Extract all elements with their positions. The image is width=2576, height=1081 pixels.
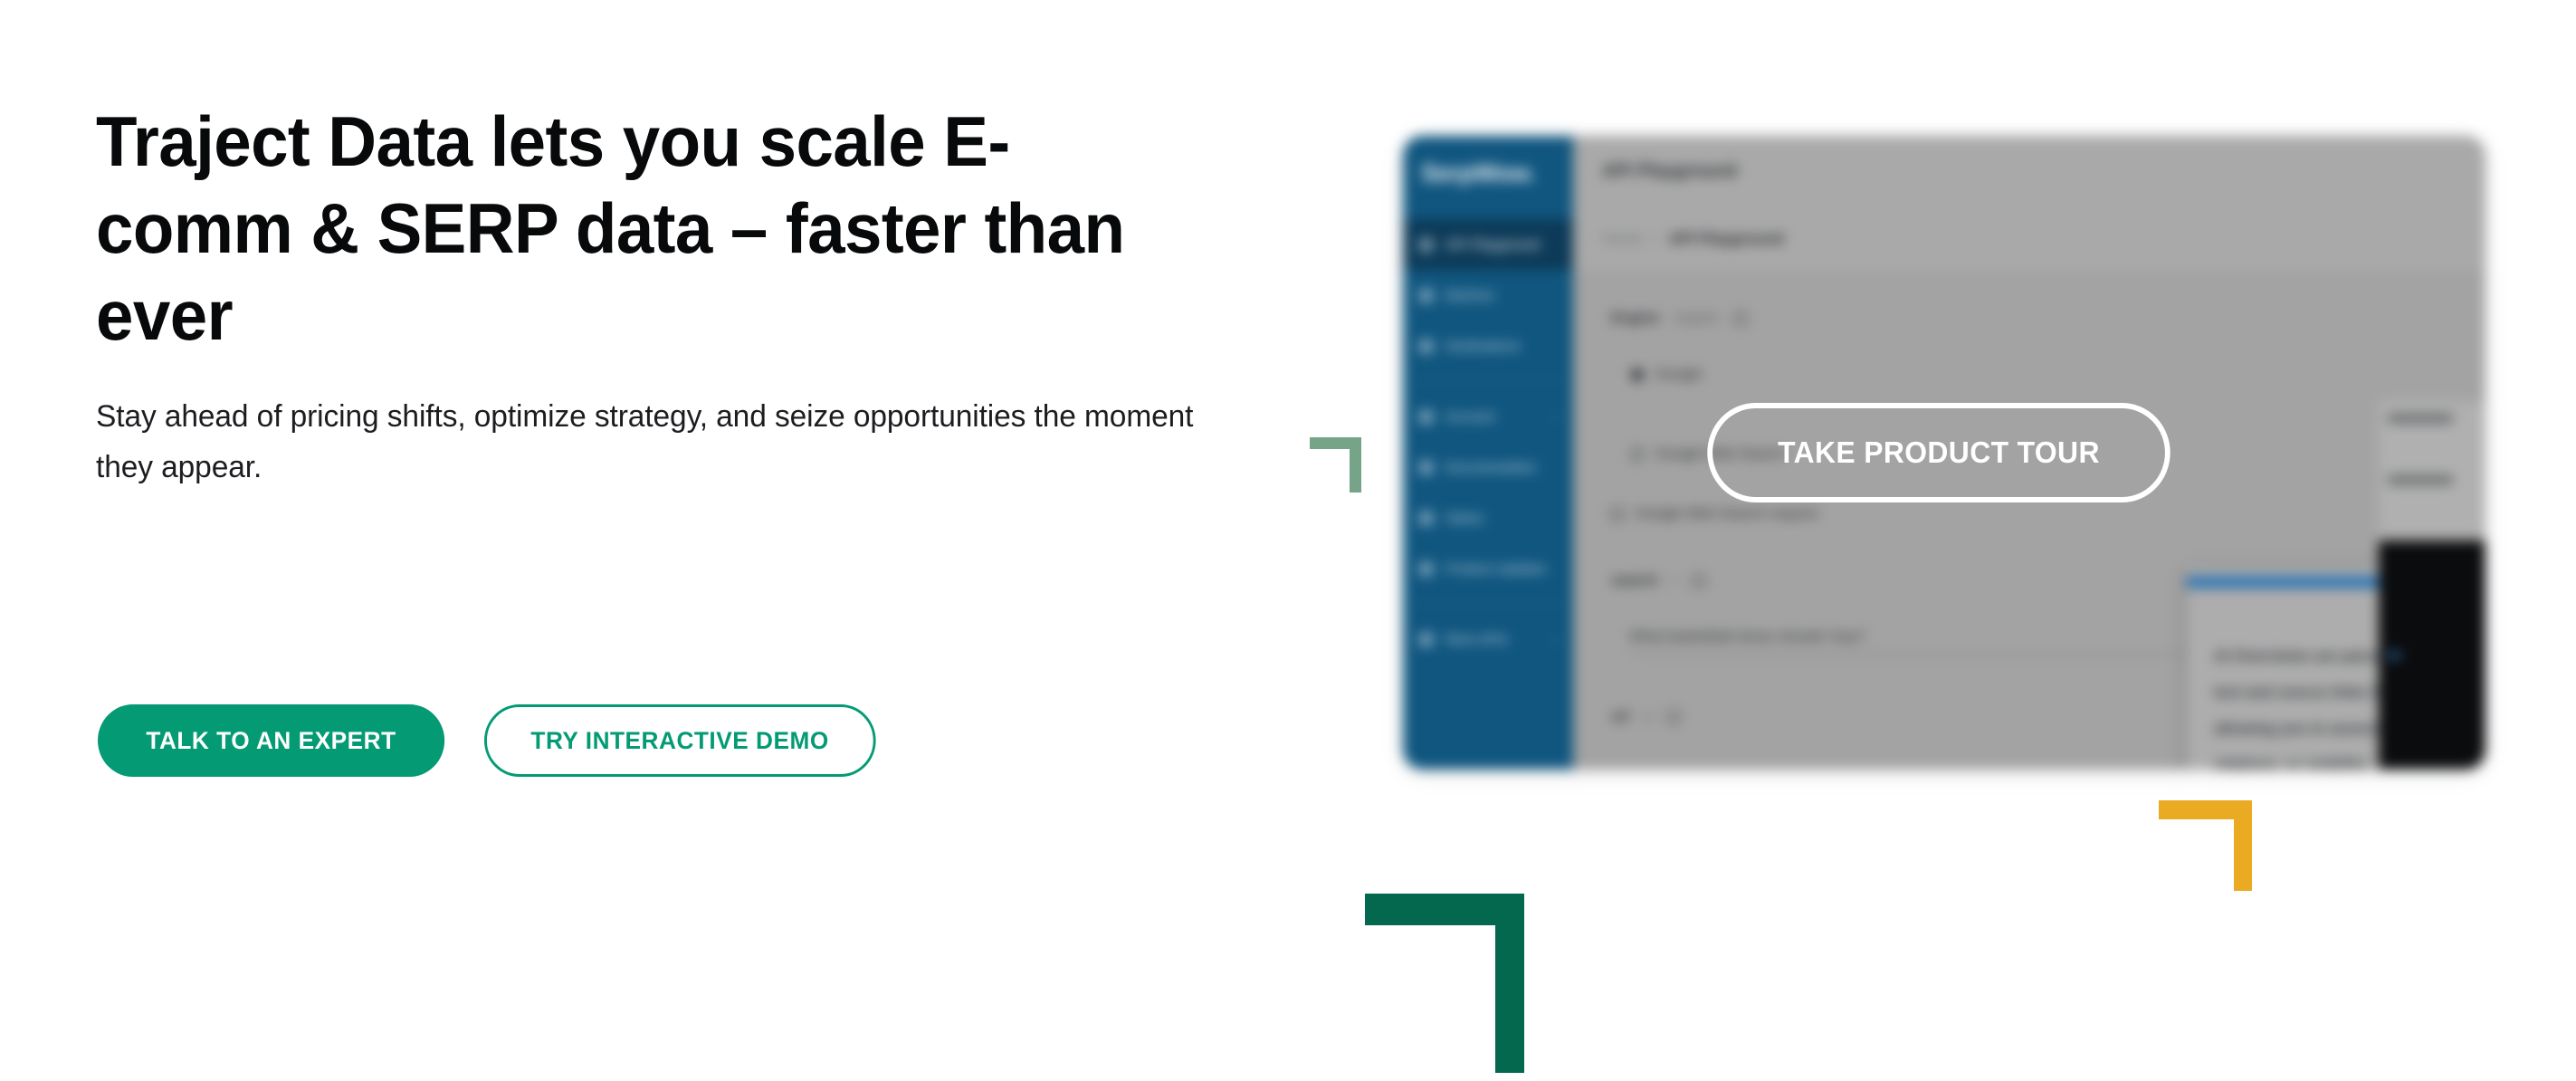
more-apis-icon bbox=[1419, 633, 1433, 646]
engine-required-hint: require bbox=[1674, 311, 1719, 327]
batches-icon bbox=[1419, 289, 1433, 302]
sidebar-item-destinations[interactable]: Destinations bbox=[1403, 320, 1573, 371]
playground-icon bbox=[1419, 238, 1433, 252]
engine-field-label: Engine require bbox=[1611, 311, 1748, 327]
request-icon bbox=[1611, 508, 1624, 521]
destinations-icon bbox=[1419, 340, 1433, 353]
engine-label: Engine bbox=[1611, 311, 1659, 327]
chevron-right-icon: › bbox=[1553, 633, 1557, 646]
sidebar-item-label: Account bbox=[1445, 409, 1494, 425]
decorative-bracket-sage bbox=[1310, 437, 1361, 493]
serpwow-logo: SerpWow. bbox=[1421, 159, 1535, 187]
help-icon[interactable] bbox=[1733, 311, 1748, 326]
engine-value-label: Google bbox=[1655, 367, 1703, 383]
sidebar-item-label: API Playground bbox=[1445, 237, 1540, 253]
sidebar-item-label: Product Updates bbox=[1445, 561, 1547, 577]
google-icon bbox=[1631, 368, 1644, 381]
talk-to-an-expert-button[interactable]: TALK TO AN EXPERT bbox=[98, 704, 444, 777]
page-title: Traject Data lets you scale E-comm & SER… bbox=[96, 98, 1185, 359]
url-field-label: url o bbox=[1611, 709, 1681, 725]
engine-value[interactable]: Google bbox=[1631, 367, 1703, 383]
search-input-value: What basketball shoes should I buy? bbox=[1629, 629, 1865, 646]
status-icon bbox=[1419, 512, 1433, 525]
docs-icon bbox=[1419, 461, 1433, 474]
chevron-right-icon: › bbox=[1553, 410, 1557, 424]
search-type-request[interactable]: Google Web Search request bbox=[1611, 506, 1818, 522]
sidebar-item-label: Destinations bbox=[1445, 339, 1521, 354]
hero-section: Traject Data lets you scale E-comm & SER… bbox=[0, 0, 2576, 1081]
url-label: url bbox=[1611, 709, 1629, 725]
sidebar-item-label: Documentation bbox=[1445, 460, 1537, 475]
sidebar-item-label: More APIs bbox=[1445, 632, 1508, 647]
hero-subtitle: Stay ahead of pricing shifts, optimize s… bbox=[96, 391, 1219, 493]
search-field-label: search r bbox=[1611, 573, 1706, 589]
sidebar-item-product-updates[interactable]: Product Updates bbox=[1403, 543, 1573, 594]
decorative-bracket-yellow bbox=[2159, 800, 2252, 891]
url-required-hint: o bbox=[1644, 709, 1652, 725]
help-icon[interactable] bbox=[1692, 574, 1706, 588]
help-icon[interactable] bbox=[1666, 710, 1681, 724]
updates-icon bbox=[1419, 562, 1433, 576]
sidebar-item-batches[interactable]: Batches bbox=[1403, 270, 1573, 320]
search-type-icon bbox=[1631, 448, 1644, 461]
breadcrumb-root[interactable]: Home bbox=[1602, 230, 1643, 248]
cta-button-row: TALK TO AN EXPERT TRY INTERACTIVE DEMO bbox=[98, 704, 887, 777]
sidebar-item-account[interactable]: Account › bbox=[1403, 391, 1573, 442]
try-interactive-demo-button[interactable]: TRY INTERACTIVE DEMO bbox=[484, 704, 875, 777]
sidebar-item-more-apis[interactable]: More APIs › bbox=[1403, 614, 1573, 665]
dashboard-sidebar: SerpWow. API Playground Batches Destinat… bbox=[1403, 136, 1573, 770]
account-icon bbox=[1419, 410, 1433, 424]
decorative-bracket-green bbox=[1365, 894, 1524, 1073]
code-preview-panel bbox=[2379, 540, 2485, 770]
code-accent-stripe bbox=[2388, 653, 2400, 658]
search-input[interactable]: What basketball shoes should I buy? bbox=[1629, 620, 2214, 655]
sidebar-item-label: Batches bbox=[1445, 288, 1494, 303]
sidebar-item-documentation[interactable]: Documentation bbox=[1403, 442, 1573, 493]
breadcrumb-current: API Playground bbox=[1669, 230, 1784, 248]
sidebar-item-api-playground[interactable]: API Playground bbox=[1403, 219, 1573, 270]
search-required-hint: r bbox=[1673, 573, 1677, 589]
sidebar-nav-list: API Playground Batches Destinations Acco… bbox=[1403, 219, 1573, 665]
breadcrumb-separator: / bbox=[1654, 230, 1658, 248]
search-type-request-label: Google Web Search request bbox=[1636, 506, 1818, 522]
dashboard-form-body: Engine require Google Google Web Search bbox=[1573, 268, 2485, 770]
search-label: search bbox=[1611, 573, 1658, 589]
sidebar-item-label: Status bbox=[1445, 511, 1484, 526]
take-product-tour-button[interactable]: TAKE PRODUCT TOUR bbox=[1707, 403, 2170, 502]
sidebar-item-status[interactable]: Status bbox=[1403, 493, 1573, 543]
breadcrumb: Home / API Playground bbox=[1602, 230, 1784, 248]
hero-copy-block: Traject Data lets you scale E-comm & SER… bbox=[96, 98, 1236, 493]
dashboard-page-title: API Playground bbox=[1602, 161, 1737, 182]
